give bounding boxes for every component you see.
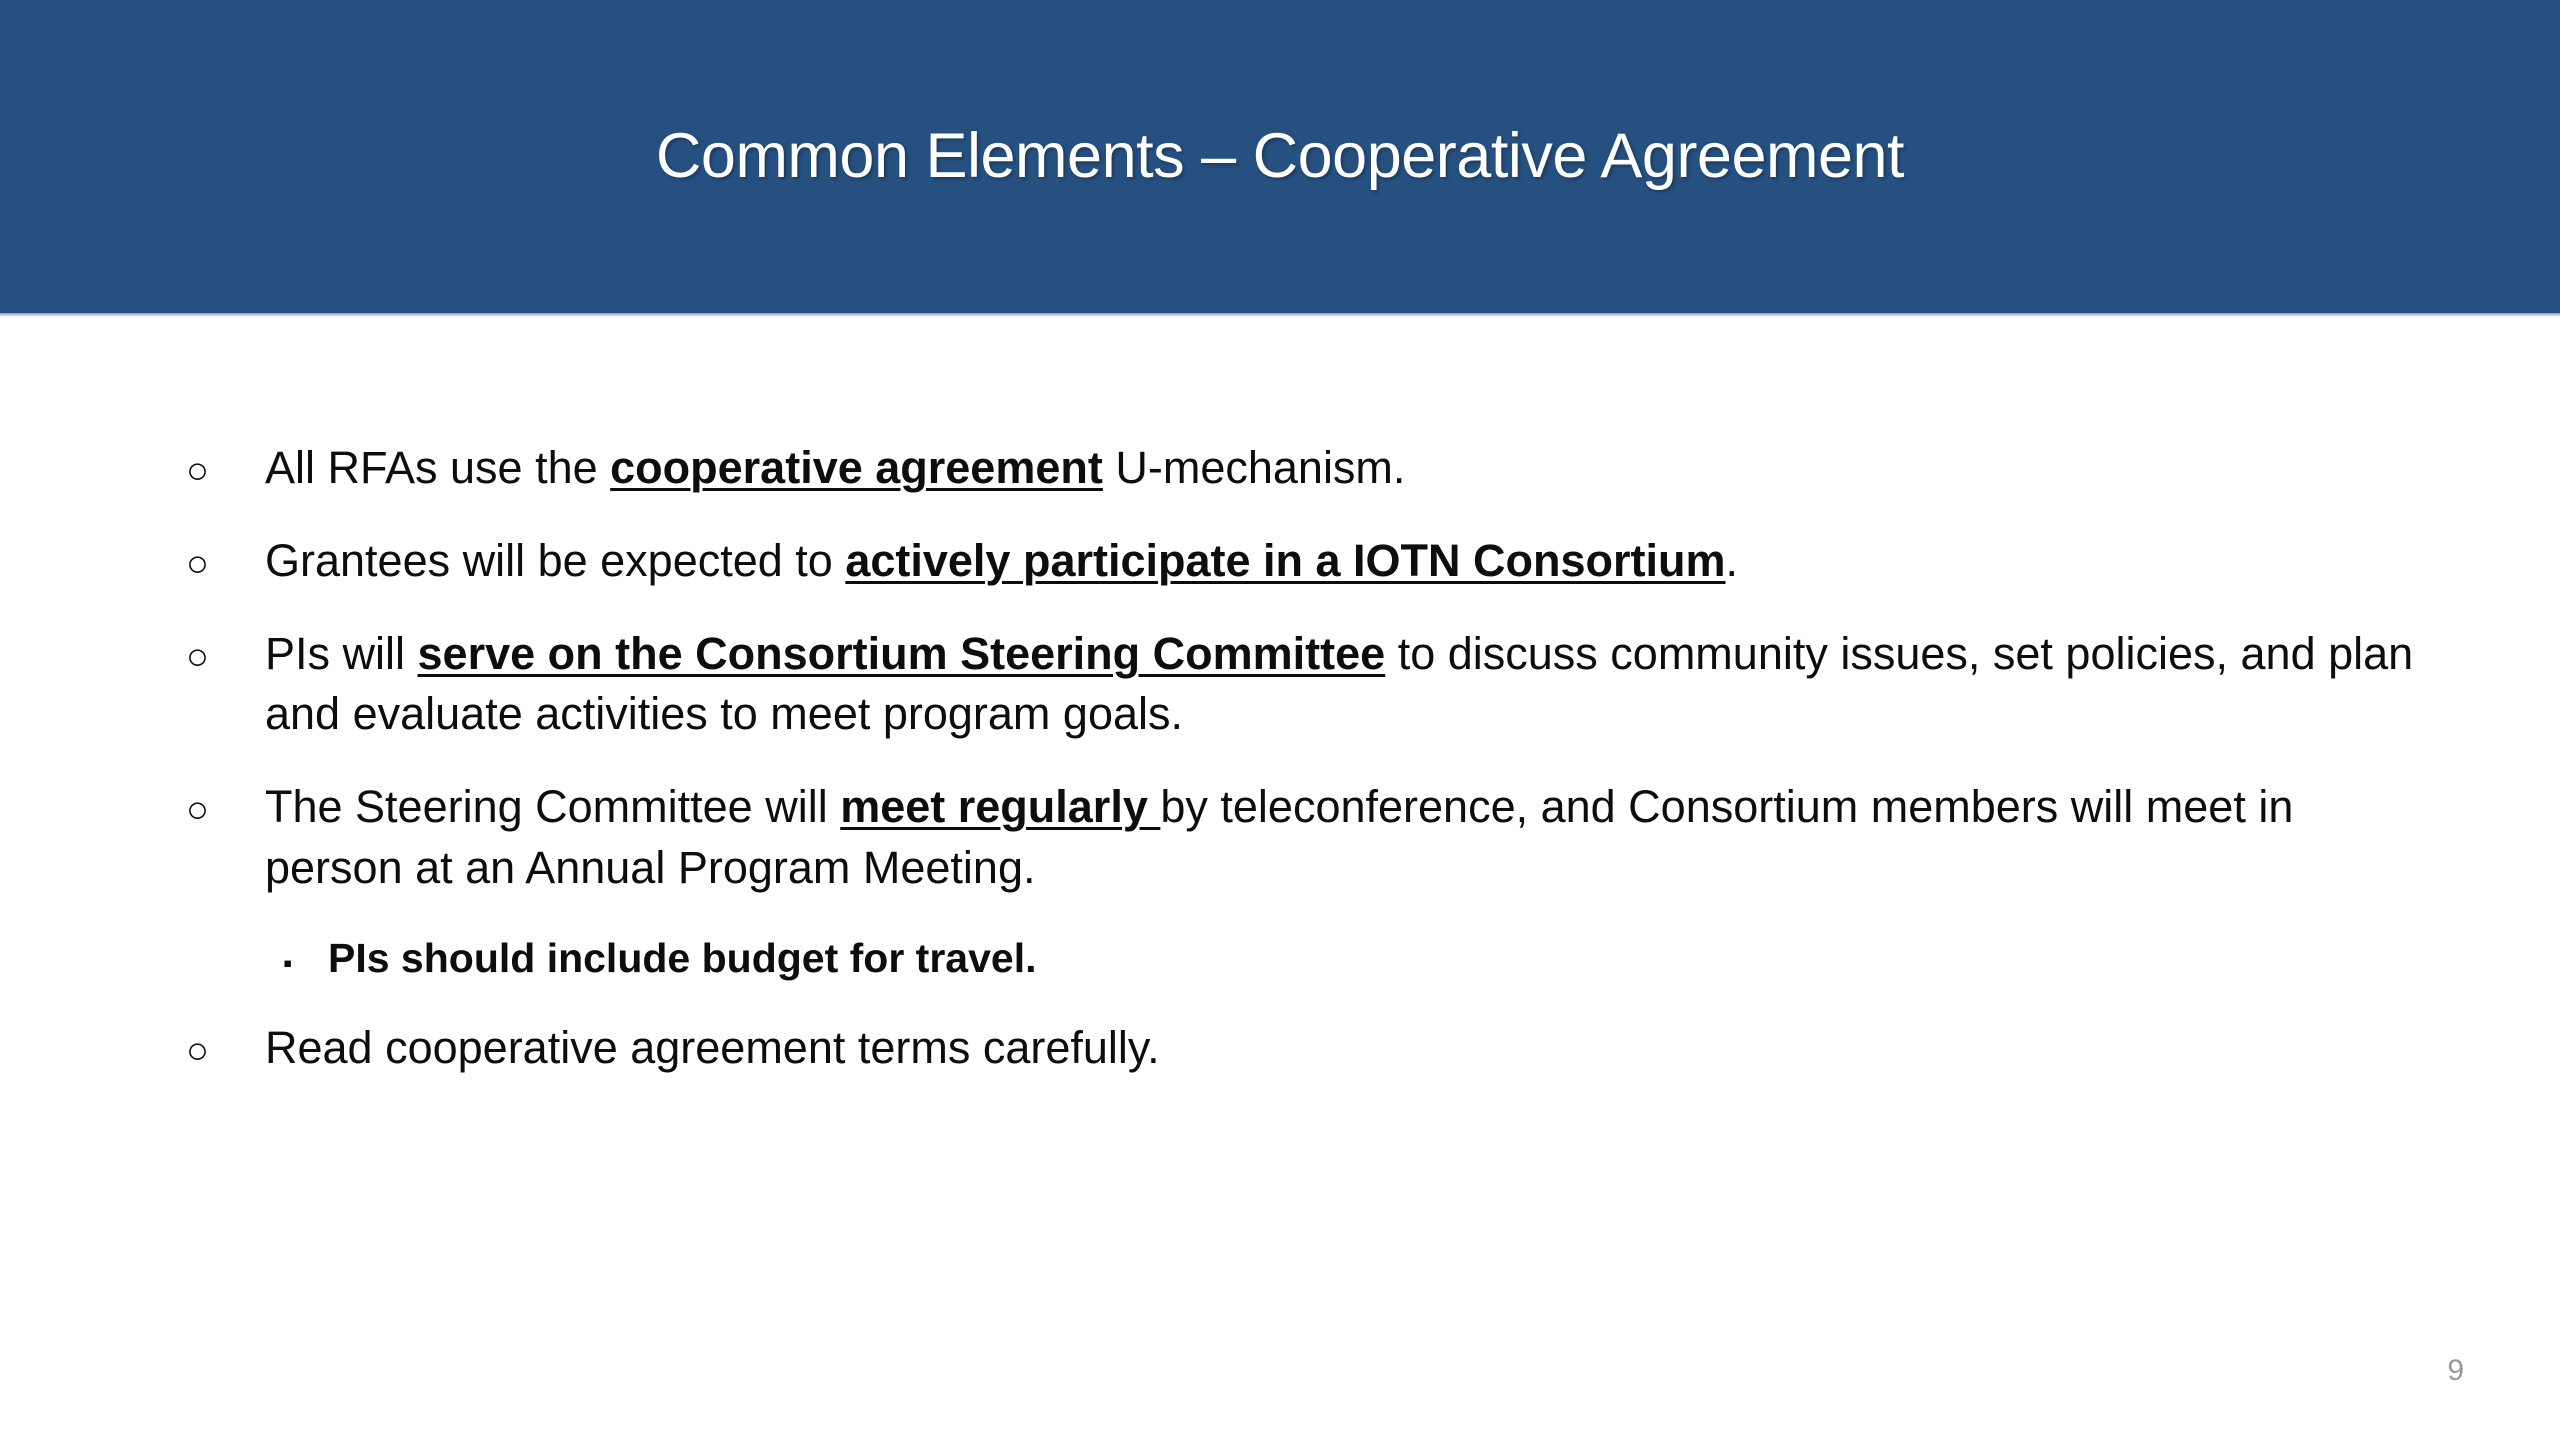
plain-text: Read cooperative agreement terms careful… (265, 1022, 1160, 1073)
bullet-item-text: All RFAs use the cooperative agreement U… (265, 438, 2436, 499)
plain-text: . (1726, 535, 1739, 586)
bullet-item-text: Read cooperative agreement terms careful… (265, 1018, 2436, 1079)
plain-text: PIs will (265, 628, 418, 679)
circle-bullet-icon: ○ (186, 438, 265, 490)
emphasis-underline-text: serve on the Consortium Steering Committ… (418, 628, 1386, 679)
page-number: 9 (2447, 1356, 2464, 1386)
emphasis-underline-text: cooperative agreement (610, 442, 1103, 493)
plain-text: All RFAs use the (265, 442, 610, 493)
page-title: Common Elements – Cooperative Agreement (656, 122, 1904, 191)
slide-title-band: Common Elements – Cooperative Agreement (0, 0, 2560, 313)
emphasis-underline-text: meet regularly (840, 781, 1160, 832)
square-bullet-icon: ▪ (283, 931, 328, 976)
circle-bullet-icon: ○ (186, 531, 265, 583)
bullet-item: ○The Steering Committee will meet regula… (186, 777, 2436, 899)
plain-text: Grantees will be expected to (265, 535, 845, 586)
emphasis-underline-text: actively participate in a IOTN Consortiu… (845, 535, 1725, 586)
bullet-item: ○All RFAs use the cooperative agreement … (186, 438, 2436, 499)
bullet-item: ○Grantees will be expected to actively p… (186, 531, 2436, 592)
slide-body: ○All RFAs use the cooperative agreement … (0, 313, 2560, 1440)
bullet-item-text: The Steering Committee will meet regular… (265, 777, 2436, 899)
bullet-item-text: PIs will serve on the Consortium Steerin… (265, 624, 2436, 746)
bullet-item: ○Read cooperative agreement terms carefu… (186, 1018, 2436, 1079)
circle-bullet-icon: ○ (186, 624, 265, 676)
plain-text: The Steering Committee will (265, 781, 840, 832)
bullet-item: ▪PIs should include budget for travel. (186, 931, 2436, 986)
circle-bullet-icon: ○ (186, 777, 265, 829)
bullet-item-text: PIs should include budget for travel. (328, 931, 2436, 986)
bullet-item: ○PIs will serve on the Consortium Steeri… (186, 624, 2436, 746)
bullet-list: ○All RFAs use the cooperative agreement … (186, 438, 2436, 1111)
emphasis-bold-text: PIs should include budget for travel. (328, 935, 1036, 981)
circle-bullet-icon: ○ (186, 1018, 265, 1070)
plain-text: U-mechanism. (1103, 442, 1406, 493)
bullet-item-text: Grantees will be expected to actively pa… (265, 531, 2436, 592)
